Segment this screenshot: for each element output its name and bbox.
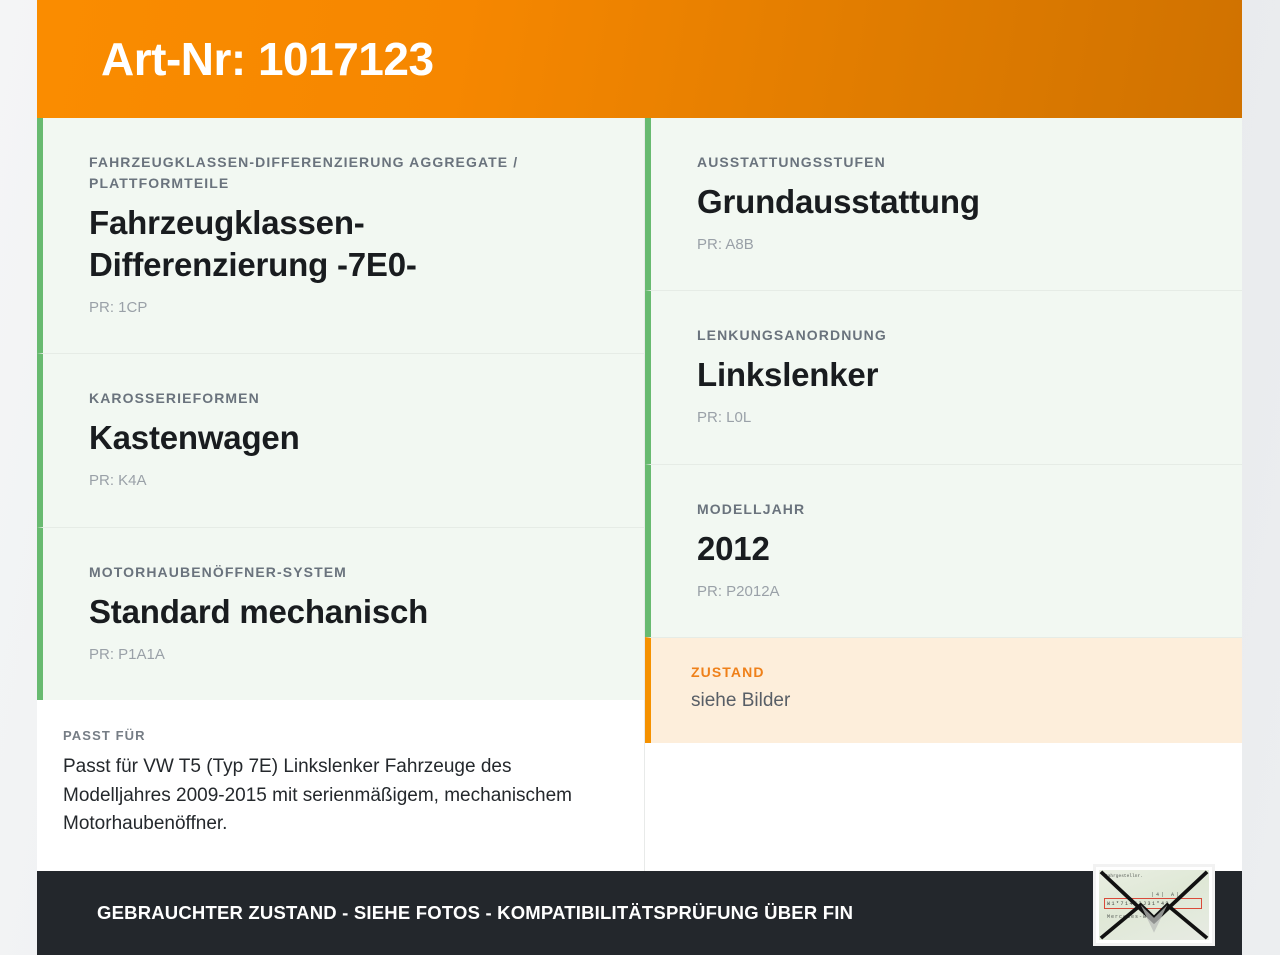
- spec-value: Fahrzeugklassen-Differenzierung -7E0-: [89, 202, 598, 286]
- spec-value: Linkslenker: [697, 354, 1196, 396]
- fits-for-label: Passt für: [63, 728, 598, 743]
- spec-label: Lenkungsanordnung: [697, 325, 1196, 346]
- header-bar: Art-Nr: 1017123: [37, 0, 1242, 118]
- spec-pr-code: PR: P1A1A: [89, 645, 598, 665]
- right-column: Ausstattungsstufen Grundausstattung PR: …: [645, 118, 1242, 871]
- envelope-icon: [1099, 870, 1209, 940]
- page-title: Art-Nr: 1017123: [37, 36, 434, 82]
- spec-pr-code: PR: K4A: [89, 471, 598, 491]
- spec-label: Modelljahr: [697, 499, 1196, 520]
- spec-card-motorhaubenoeffner: Motorhaubenöffner-System Standard mechan…: [37, 527, 644, 700]
- spec-pr-code: PR: L0L: [697, 408, 1196, 428]
- thumbnail-preview[interactable]: Fahrgestellnr. |4| A|4 W1*71463J31*4? Me…: [1093, 864, 1215, 946]
- spec-value: 2012: [697, 528, 1196, 570]
- spec-card-ausstattungsstufen: Ausstattungsstufen Grundausstattung PR: …: [645, 118, 1242, 290]
- right-column-filler: [645, 743, 1242, 871]
- spec-pr-code: PR: 1CP: [89, 298, 598, 318]
- spec-pr-code: PR: A8B: [697, 235, 1196, 255]
- condition-label: Zustand: [691, 662, 1196, 683]
- spec-value: Kastenwagen: [89, 417, 598, 459]
- spec-label: Ausstattungsstufen: [697, 152, 1196, 173]
- left-column: Fahrzeugklassen-Differenzierung Aggregat…: [37, 118, 645, 871]
- spec-value: Standard mechanisch: [89, 591, 598, 633]
- spec-card-fahrzeugklassen: Fahrzeugklassen-Differenzierung Aggregat…: [37, 118, 644, 353]
- spec-pr-code: PR: P2012A: [697, 582, 1196, 602]
- spec-card-karosserieformen: Karosserieformen Kastenwagen PR: K4A: [37, 353, 644, 526]
- fits-for-text: Passt für VW T5 (Typ 7E) Linkslenker Fah…: [63, 753, 583, 839]
- condition-value: siehe Bilder: [691, 689, 1196, 713]
- spec-label: Fahrzeugklassen-Differenzierung Aggregat…: [89, 152, 598, 194]
- spec-label: Motorhaubenöffner-System: [89, 562, 598, 583]
- condition-card-zustand: Zustand siehe Bilder: [645, 637, 1242, 743]
- footer-bar: GEBRAUCHTER ZUSTAND - SIEHE FOTOS - KOMP…: [37, 871, 1242, 955]
- product-detail-panel: Art-Nr: 1017123 Fahrzeugklassen-Differen…: [37, 0, 1242, 955]
- specs-columns: Fahrzeugklassen-Differenzierung Aggregat…: [37, 118, 1242, 871]
- spec-label: Karosserieformen: [89, 388, 598, 409]
- fits-for-block: Passt für Passt für VW T5 (Typ 7E) Links…: [37, 700, 644, 869]
- spec-value: Grundausstattung: [697, 181, 1196, 223]
- spec-card-modelljahr: Modelljahr 2012 PR: P2012A: [645, 464, 1242, 637]
- spec-card-lenkungsanordnung: Lenkungsanordnung Linkslenker PR: L0L: [645, 290, 1242, 463]
- footer-notice: GEBRAUCHTER ZUSTAND - SIEHE FOTOS - KOMP…: [37, 902, 853, 924]
